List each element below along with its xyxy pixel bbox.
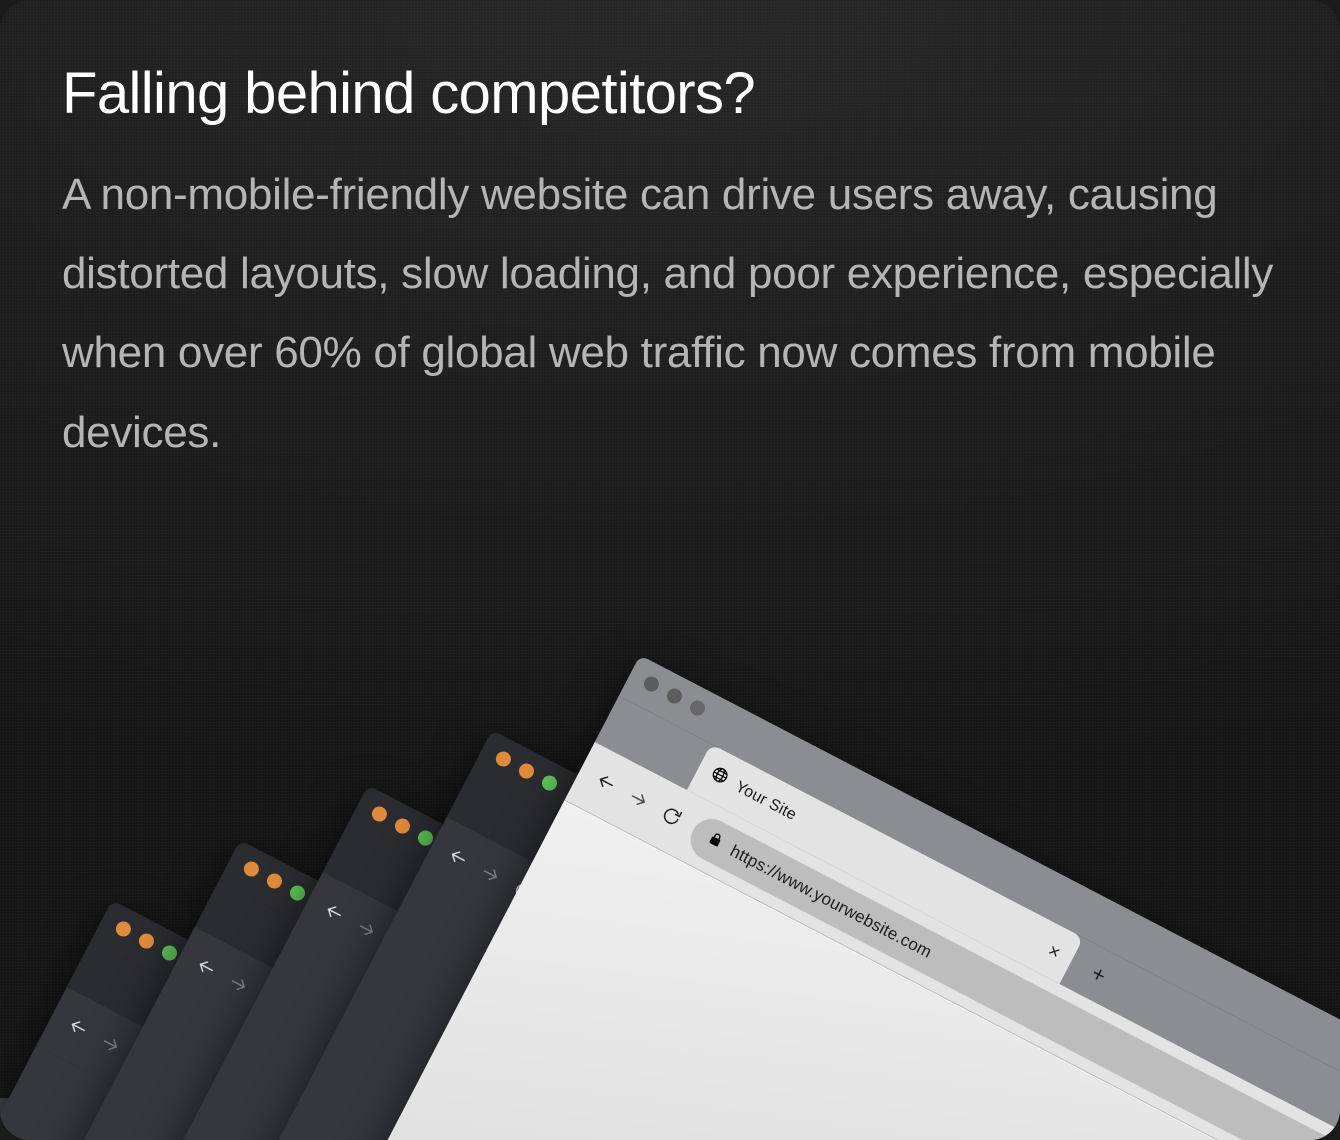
traffic-light-minimize[interactable]: [264, 871, 284, 891]
back-arrow-icon[interactable]: [189, 953, 220, 986]
traffic-lights: [641, 674, 707, 718]
reload-icon[interactable]: [655, 802, 686, 835]
card-copy: Falling behind competitors? A non-mobile…: [62, 62, 1282, 472]
traffic-lights: [113, 919, 179, 963]
traffic-light-maximize[interactable]: [287, 883, 307, 903]
lock-icon: [704, 830, 725, 854]
traffic-light-minimize[interactable]: [136, 931, 156, 951]
traffic-light-minimize[interactable]: [392, 816, 412, 836]
back-arrow-icon[interactable]: [441, 843, 472, 876]
close-tab-icon[interactable]: ×: [1045, 941, 1064, 963]
promo-card: your site × +: [0, 0, 1340, 1140]
traffic-light-close[interactable]: [493, 749, 513, 769]
traffic-light-close[interactable]: [241, 859, 261, 879]
traffic-light-close[interactable]: [113, 919, 133, 939]
page-title: Falling behind competitors?: [62, 62, 1282, 127]
body-paragraph: A non-mobile-friendly website can drive …: [62, 155, 1277, 472]
back-arrow-icon[interactable]: [589, 768, 620, 801]
traffic-light-maximize[interactable]: [687, 698, 707, 718]
traffic-lights: [493, 749, 559, 793]
traffic-light-maximize[interactable]: [539, 773, 559, 793]
new-tab-icon[interactable]: +: [1088, 962, 1110, 987]
globe-icon: [706, 764, 731, 791]
traffic-lights: [369, 804, 435, 848]
traffic-light-close[interactable]: [641, 674, 661, 694]
traffic-light-close[interactable]: [369, 804, 389, 824]
back-arrow-icon[interactable]: [317, 898, 348, 931]
forward-arrow-icon[interactable]: [222, 970, 253, 1003]
back-arrow-icon[interactable]: [61, 1013, 92, 1046]
forward-arrow-icon[interactable]: [350, 915, 381, 948]
traffic-light-minimize[interactable]: [516, 761, 536, 781]
traffic-light-minimize[interactable]: [664, 686, 684, 706]
forward-arrow-icon[interactable]: [622, 785, 653, 818]
forward-arrow-icon[interactable]: [94, 1030, 125, 1063]
traffic-lights: [241, 859, 307, 903]
forward-arrow-icon[interactable]: [474, 860, 505, 893]
